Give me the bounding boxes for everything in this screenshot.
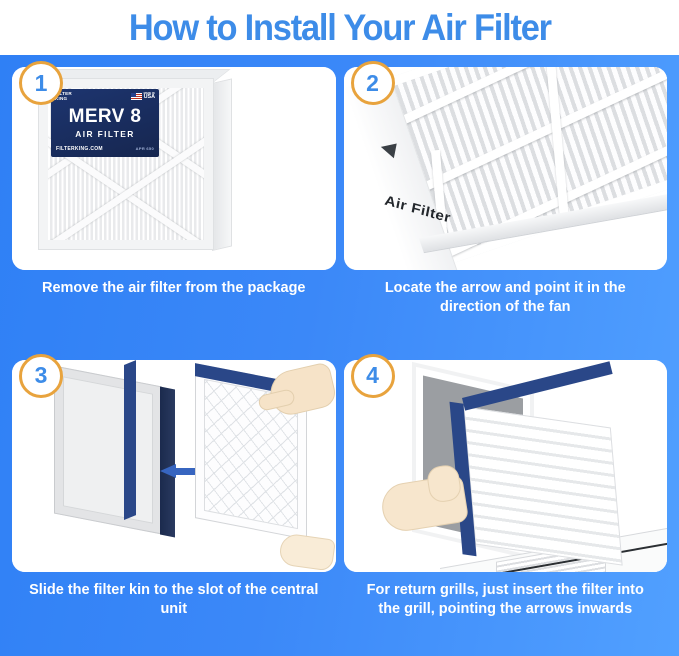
website-text: FILTERKING.COM	[56, 146, 103, 152]
steps-grid: FILTER KING MADE IN USA	[0, 55, 679, 656]
hand-bottom-illustration	[278, 532, 335, 571]
air-filter-photo: FILTER KING MADE IN USA	[38, 78, 232, 258]
title-bar: How to Install Your Air Filter	[0, 0, 679, 55]
merv-rating: MERV 8	[51, 106, 159, 128]
model-text: APR 650	[136, 146, 154, 151]
step-2-caption: Locate the arrow and point it in the dir…	[344, 270, 668, 317]
filter-closeup: Air Filter	[344, 67, 668, 270]
country-text: MADE IN USA	[144, 93, 155, 101]
filter-side-face	[212, 78, 232, 251]
brand-line-2: KING	[55, 97, 72, 102]
label-product-type: AIR FILTER	[51, 129, 159, 139]
step-1-image: FILTER KING MADE IN USA	[12, 67, 336, 270]
step-1-card: FILTER KING MADE IN USA	[12, 67, 336, 270]
step-4-image	[344, 360, 668, 572]
arrow-head	[160, 464, 176, 478]
filter-navy-side	[124, 360, 136, 520]
step-4-card	[344, 360, 668, 572]
central-unit-slot	[54, 365, 162, 534]
step-3: 3 Slide the filter kin to the slot of th…	[12, 360, 336, 651]
step-3-number: 3	[35, 364, 48, 387]
label-footer: FILTERKING.COM APR 650	[51, 139, 159, 152]
label-header: FILTER KING MADE IN USA	[51, 89, 159, 102]
page-title: How to Install Your Air Filter	[129, 7, 551, 49]
step-1: FILTER KING MADE IN USA	[12, 67, 336, 358]
step-4-caption: For return grills, just insert the filte…	[344, 572, 668, 619]
country-name: USA	[144, 94, 155, 100]
step-1-caption: Remove the air filter from the package	[12, 270, 336, 298]
step-2-badge: 2	[351, 61, 395, 105]
steps-board: FILTER KING MADE IN USA	[0, 55, 679, 656]
step-2-image: Air Filter	[344, 67, 668, 270]
step-2-number: 2	[366, 72, 379, 95]
us-flag-icon	[131, 93, 142, 100]
airflow-arrow-icon	[379, 140, 396, 159]
product-label: FILTER KING MADE IN USA	[51, 89, 159, 157]
made-in-usa: MADE IN USA	[131, 93, 155, 101]
step-3-image	[12, 360, 336, 572]
step-3-card	[12, 360, 336, 572]
step-2: Air Filter 2 Locate the arrow and point …	[344, 67, 668, 358]
step-4: 4 For return grills, just insert the fil…	[344, 360, 668, 651]
step-3-badge: 3	[19, 354, 63, 398]
infographic-poster: How to Install Your Air Filter	[0, 0, 679, 656]
step-1-number: 1	[35, 72, 48, 95]
step-4-badge: 4	[351, 354, 395, 398]
step-3-caption: Slide the filter kin to the slot of the …	[12, 572, 336, 619]
filter-front-face: FILTER KING MADE IN USA	[38, 78, 214, 250]
unit-slot-opening	[160, 386, 175, 537]
step-1-badge: 1	[19, 61, 63, 105]
step-2-card: Air Filter	[344, 67, 668, 270]
step-4-number: 4	[366, 364, 379, 387]
return-grill-louvers	[463, 406, 622, 565]
